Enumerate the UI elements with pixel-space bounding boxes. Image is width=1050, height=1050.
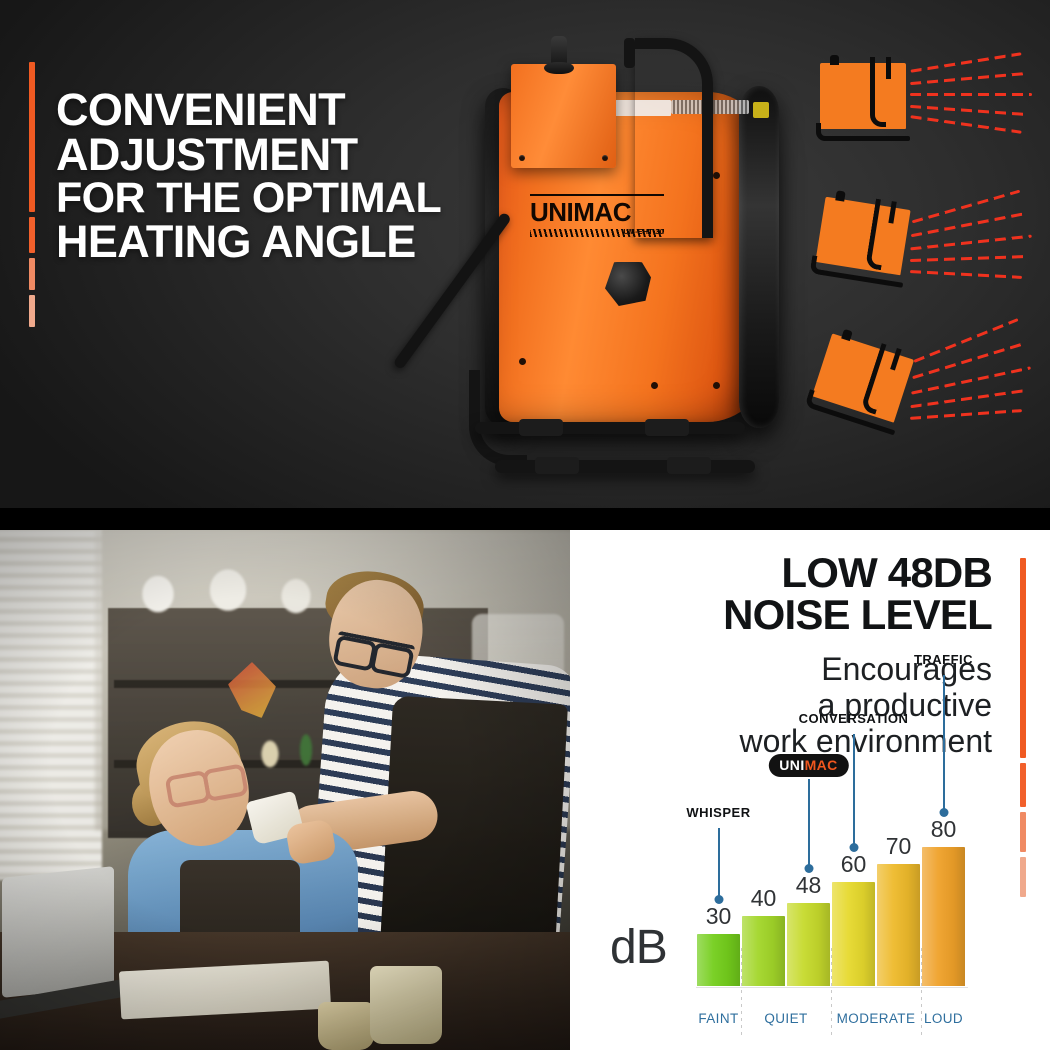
annotation-leader-line — [943, 675, 945, 813]
heater-warning-sticker — [753, 102, 769, 118]
heater-base-curve — [469, 370, 527, 466]
accent-bar-left — [29, 62, 35, 327]
screw-icon — [713, 172, 720, 179]
chart-group-label: QUIET — [764, 1011, 807, 1026]
heater-base-bar-upper — [475, 422, 745, 434]
tilt-angle-diagram-2 — [814, 195, 1044, 313]
heater-foot — [645, 419, 689, 436]
heater-top-knob — [551, 36, 567, 70]
chart-bar — [697, 934, 740, 986]
bottom-feature-panel: LOW 48DB NOISE LEVEL Encourages a produc… — [0, 530, 1050, 1050]
noise-headline: LOW 48DB NOISE LEVEL — [602, 552, 992, 636]
chart-group-label: FAINT — [698, 1011, 738, 1026]
heater-control-box — [511, 64, 616, 168]
heater-nozzle-icon — [835, 190, 845, 201]
annotation-label: WHISPER — [686, 805, 750, 820]
screw-icon — [713, 382, 720, 389]
annotation-leader-line — [853, 734, 855, 848]
annotation-label: CONVERSATION — [799, 711, 909, 726]
badge-prefix: UNI — [779, 757, 804, 773]
screw-icon — [651, 382, 658, 389]
annotation-leader-line — [808, 779, 810, 869]
accent-segment-3 — [29, 258, 35, 290]
noise-info-column: LOW 48DB NOISE LEVEL Encourages a produc… — [576, 530, 1050, 1050]
screw-icon — [519, 358, 526, 365]
chart-group-label: LOUD — [924, 1011, 963, 1026]
photo-vignette — [0, 530, 570, 1050]
heater-foot — [519, 419, 563, 436]
chart-bar — [877, 864, 920, 986]
noise-subtitle: Encourages a productive work environment — [602, 652, 992, 759]
heater-nozzle-icon — [830, 55, 839, 65]
chart-group-label: MODERATE — [837, 1011, 916, 1026]
heater-foot — [667, 457, 711, 474]
decibel-bar-chart: dB 304048607080 WHISPERUNIMACCONVERSATIO… — [596, 752, 1036, 1048]
heater-icon — [815, 197, 910, 276]
heater-front-ring — [739, 86, 779, 428]
chart-bar-value: 30 — [706, 903, 732, 930]
chart-baseline — [696, 987, 968, 988]
airflow-lines — [910, 57, 1040, 139]
chart-axis-label-db: dB — [610, 920, 667, 975]
lifestyle-photo — [0, 530, 570, 1050]
chart-bar-slot: 70 — [876, 826, 921, 986]
accent-segment-1 — [29, 62, 35, 212]
chart-bar — [742, 916, 785, 986]
airflow-lines — [910, 203, 1040, 285]
accent-segment-2 — [29, 217, 35, 253]
accent-segment-1 — [1020, 558, 1026, 758]
chart-bar-value: 60 — [841, 851, 867, 878]
airflow-lines — [910, 335, 1040, 417]
top-feature-panel: CONVENIENT ADJUSTMENT FOR THE OPTIMAL HE… — [0, 0, 1050, 530]
chart-bar-value: 70 — [886, 833, 912, 860]
chart-group-divider — [831, 948, 832, 1036]
noise-subtitle-line-2: a productive — [602, 688, 992, 724]
chart-group-divider — [921, 948, 922, 1036]
chart-group-divider — [741, 948, 742, 1036]
tilt-angle-diagrams — [814, 55, 1044, 455]
annotation-label: TRAFFIC — [914, 652, 973, 667]
heater-base-bar-lower — [495, 460, 755, 473]
tilt-angle-diagram-1 — [814, 55, 1044, 173]
chart-bar — [787, 903, 830, 986]
infographic-page: CONVENIENT ADJUSTMENT FOR THE OPTIMAL HE… — [0, 0, 1050, 1050]
heater-icon — [820, 63, 906, 129]
screw-icon — [602, 155, 608, 161]
chart-bar-slot: 40 — [741, 826, 786, 986]
noise-headline-line-1: LOW 48DB — [602, 552, 992, 594]
chart-bar-slot: 80 — [921, 826, 966, 986]
badge-suffix: MAC — [805, 757, 838, 773]
product-image-heater: UNIMAC UM-EHT-30 — [455, 30, 805, 490]
heater-foot — [535, 457, 579, 474]
chart-bar-value: 40 — [751, 885, 777, 912]
heater-handle-icon — [870, 57, 886, 127]
chart-bar-value: 80 — [931, 816, 957, 843]
accent-segment-4 — [29, 295, 35, 327]
unimac-badge: UNIMAC — [768, 754, 848, 777]
heater-foot-icon — [824, 136, 910, 141]
chart-bar — [832, 882, 875, 986]
tilt-angle-diagram-3 — [814, 337, 1044, 455]
screw-icon — [519, 155, 525, 161]
chart-bar — [922, 847, 965, 986]
chart-bar-value: 48 — [796, 872, 822, 899]
annotation-leader-line — [718, 828, 720, 900]
noise-headline-line-2: NOISE LEVEL — [602, 594, 992, 636]
